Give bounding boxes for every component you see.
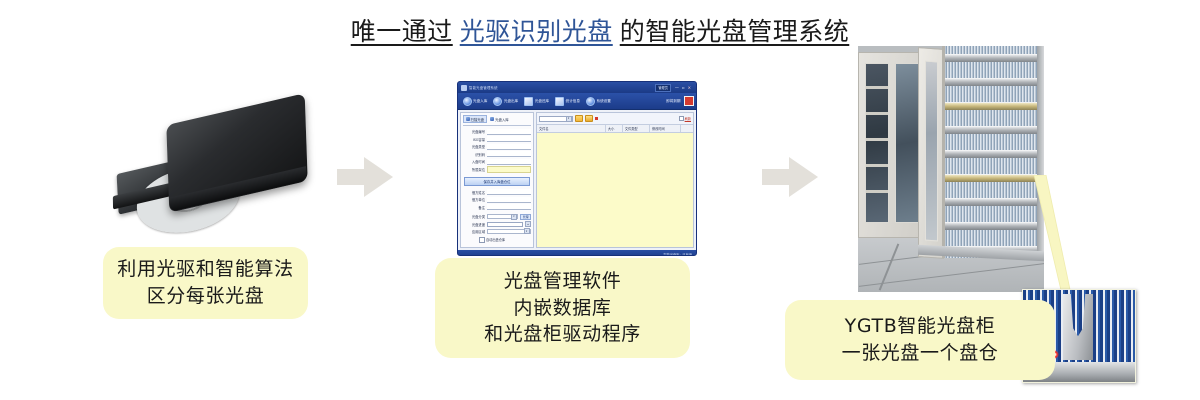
- cabinet-disc-rack: [942, 46, 1044, 258]
- software-left-panel: 扫描光盘 光盘入库 光盘编号 ISO容量 光盘类型 识别码: [460, 112, 534, 248]
- borrower-name-input[interactable]: [487, 189, 531, 195]
- rack-right-edge: [1037, 46, 1044, 258]
- stop-icon[interactable]: [595, 117, 598, 120]
- door-glass-pane: [925, 61, 938, 242]
- borrower-unit-input[interactable]: [487, 197, 531, 203]
- caption-line: 和光盘柜驱动程序: [484, 321, 641, 348]
- drive-path-select[interactable]: ▾: [539, 116, 573, 122]
- toolbar-label: 光盘还库: [535, 99, 549, 104]
- column-filename[interactable]: 文件名: [537, 125, 606, 132]
- column-filetype[interactable]: 文件类型: [623, 125, 650, 132]
- caption-line: 利用光驱和智能算法: [117, 256, 293, 283]
- open-folder-icon[interactable]: [575, 115, 583, 122]
- page-title: 唯一通过光驱识别光盘的智能光盘管理系统: [0, 12, 1200, 48]
- field-apply-area: 应用区域 ▾: [463, 229, 531, 234]
- dvd-drive-photo: [112, 104, 322, 224]
- title-accent: 光驱识别光盘: [460, 17, 613, 46]
- app-title: 智能光盘管理系统: [469, 85, 498, 90]
- software-right-panel: ▾ 刷新 文件名 大小 文件类型 修改时间: [536, 112, 694, 248]
- maximize-icon[interactable]: ▫: [682, 85, 685, 90]
- arrow-shaft: [337, 169, 367, 185]
- disc-out-icon: [493, 97, 502, 106]
- field-label: 光盘编号: [463, 129, 485, 134]
- field-label: 入盘时间: [463, 159, 485, 164]
- toolbar-label: 统计信息: [566, 99, 580, 104]
- field-borrower-name: 借方姓名: [463, 189, 531, 195]
- toolbar-label: 系统设置: [597, 99, 611, 104]
- field-label: 光盘分类: [463, 214, 485, 219]
- stepper-up-icon[interactable]: ▴: [525, 221, 531, 227]
- field-label: 应用区域: [463, 229, 485, 234]
- auto-eject-checkbox-row[interactable]: 自动出盘仓库: [463, 237, 531, 243]
- chevron-down-icon: ▾: [566, 116, 572, 122]
- tab-label: 扫描光盘: [471, 117, 485, 122]
- field-slot-position: 所属架位: [463, 166, 531, 173]
- caption-line: YGTB智能光盘柜: [845, 313, 996, 340]
- toolbar-button-disc-return[interactable]: 光盘还库: [522, 96, 552, 107]
- tab-disc-in[interactable]: 光盘入库: [489, 115, 511, 123]
- field-label: 借方单位: [463, 197, 485, 202]
- column-extra[interactable]: [681, 125, 693, 132]
- scan-icon: [466, 117, 470, 121]
- refresh-control[interactable]: 刷新: [679, 116, 691, 121]
- field-iso-size: ISO容量: [463, 136, 531, 142]
- toolbar-label: 即将到期: [666, 99, 680, 104]
- field-label: 光盘类型: [463, 144, 485, 149]
- caption-left: 利用光驱和智能算法 区分每张光盘: [103, 247, 308, 319]
- field-insert-time: 入盘时间: [463, 159, 531, 165]
- gear-icon: [586, 97, 595, 106]
- folder-icon[interactable]: [585, 115, 593, 122]
- arrow-head: [364, 157, 393, 197]
- iso-size-input[interactable]: [487, 136, 531, 142]
- flow-arrow-2-icon: [762, 157, 818, 197]
- caption-middle: 光盘管理软件 内嵌数据库 和光盘柜驱动程序: [435, 258, 690, 358]
- remark-input[interactable]: [487, 204, 531, 210]
- file-list-body[interactable]: [537, 133, 693, 247]
- refresh-label[interactable]: 刷新: [685, 116, 691, 121]
- close-icon[interactable]: ×: [688, 85, 691, 90]
- disc-in-small-icon: [490, 117, 494, 121]
- disc-type-input[interactable]: [487, 144, 531, 150]
- field-borrower-unit: 借方单位: [463, 197, 531, 203]
- window-controls: — ▫ ×: [675, 85, 691, 90]
- disc-in-icon: [463, 97, 472, 106]
- file-list-header: 文件名 大小 文件类型 修改时间: [537, 125, 693, 133]
- file-browser-toolbar: ▾ 刷新: [537, 113, 693, 125]
- chevron-down-icon: ▾: [524, 228, 530, 234]
- software-body: 扫描光盘 光盘入库 光盘编号 ISO容量 光盘类型 识别码: [458, 110, 696, 250]
- background-cabinet-glass-left: [865, 63, 889, 223]
- field-label: 识别码: [463, 152, 485, 157]
- disc-return-icon: [524, 97, 533, 106]
- software-titlebar: 智能光盘管理系统 管理员 — ▫ ×: [458, 82, 696, 93]
- flow-arrow-1-icon: [337, 157, 393, 197]
- caption-line: 内嵌数据库: [513, 295, 611, 322]
- save-and-store-button[interactable]: 保存并入库盘仓位: [464, 177, 530, 186]
- caption-line: 光盘管理软件: [504, 268, 622, 295]
- field-disc-type: 光盘类型: [463, 144, 531, 150]
- identifier-input[interactable]: [487, 151, 531, 157]
- checkbox-icon[interactable]: [679, 116, 684, 121]
- stats-icon: [555, 97, 564, 106]
- toolbar-button-stats[interactable]: 统计信息: [553, 96, 583, 107]
- apply-area-select[interactable]: ▾: [487, 229, 531, 234]
- progress-bar: [487, 222, 523, 227]
- slot-position-input[interactable]: [487, 166, 531, 173]
- alert-icon[interactable]: [684, 96, 694, 106]
- field-label: 借方姓名: [463, 190, 485, 195]
- toolbar-button-disc-in[interactable]: 光盘入库: [460, 96, 490, 107]
- column-size[interactable]: 大小: [606, 125, 623, 132]
- caption-line: 区分每张光盘: [147, 283, 265, 310]
- toolbar-label: 光盘出库: [504, 99, 518, 104]
- toolbar-button-expiring[interactable]: 即将到期: [664, 98, 683, 105]
- checkbox-icon[interactable]: [479, 237, 485, 243]
- disc-number-input[interactable]: [487, 129, 531, 135]
- caption-line: 一张光盘一个盘仓: [842, 340, 999, 367]
- caption-right: YGTB智能光盘柜 一张光盘一个盘仓: [785, 300, 1055, 380]
- app-logo-icon: [461, 85, 467, 91]
- background-cabinet: [858, 52, 926, 238]
- field-label: 所属架位: [463, 167, 485, 172]
- toolbar-button-disc-out[interactable]: 光盘出库: [491, 96, 521, 107]
- field-disc-number: 光盘编号: [463, 129, 531, 135]
- arrow-shaft: [762, 169, 792, 185]
- field-disc-category: 光盘分类 ▾ 管理: [463, 214, 531, 220]
- category-manage-button[interactable]: 管理: [520, 214, 531, 220]
- field-label: 光盘进度: [463, 222, 485, 227]
- toolbar-label: 光盘入库: [473, 99, 487, 104]
- panel-tabs: 扫描光盘 光盘入库: [463, 115, 531, 126]
- arrow-head: [789, 157, 818, 197]
- column-modified[interactable]: 修改时间: [650, 125, 681, 132]
- disc-cabinet-photo: [858, 46, 1044, 292]
- toolbar-button-settings[interactable]: 系统设置: [584, 96, 614, 107]
- software-toolbar: 光盘入库 光盘出库 光盘还库 统计信息 系统设置 即将到期: [458, 93, 696, 110]
- field-identifier: 识别码: [463, 151, 531, 157]
- field-remark: 备注: [463, 204, 531, 210]
- software-statusbar: 智能光盘柜 · 已就绪: [458, 250, 696, 256]
- title-part-1: 唯一通过: [351, 17, 453, 46]
- tab-scan-disc[interactable]: 扫描光盘: [463, 115, 487, 123]
- software-screenshot: 智能光盘管理系统 管理员 — ▫ × 光盘入库 光盘出库 光盘还库 统计信息 系…: [457, 81, 697, 256]
- field-disc-progress: 光盘进度 ▴: [463, 221, 531, 227]
- insert-time-input[interactable]: [487, 159, 531, 165]
- field-label: ISO容量: [463, 137, 485, 142]
- chevron-down-icon: ▾: [511, 214, 517, 220]
- field-label: 备注: [463, 205, 485, 210]
- open-cabinet-door: [918, 47, 944, 259]
- tab-label: 光盘入库: [495, 117, 509, 122]
- disc-category-select[interactable]: ▾: [487, 214, 518, 219]
- user-chip: 管理员: [655, 84, 671, 92]
- title-part-2: 的智能光盘管理系统: [620, 17, 850, 46]
- minimize-icon[interactable]: —: [675, 85, 679, 90]
- checkbox-label: 自动出盘仓库: [486, 237, 505, 242]
